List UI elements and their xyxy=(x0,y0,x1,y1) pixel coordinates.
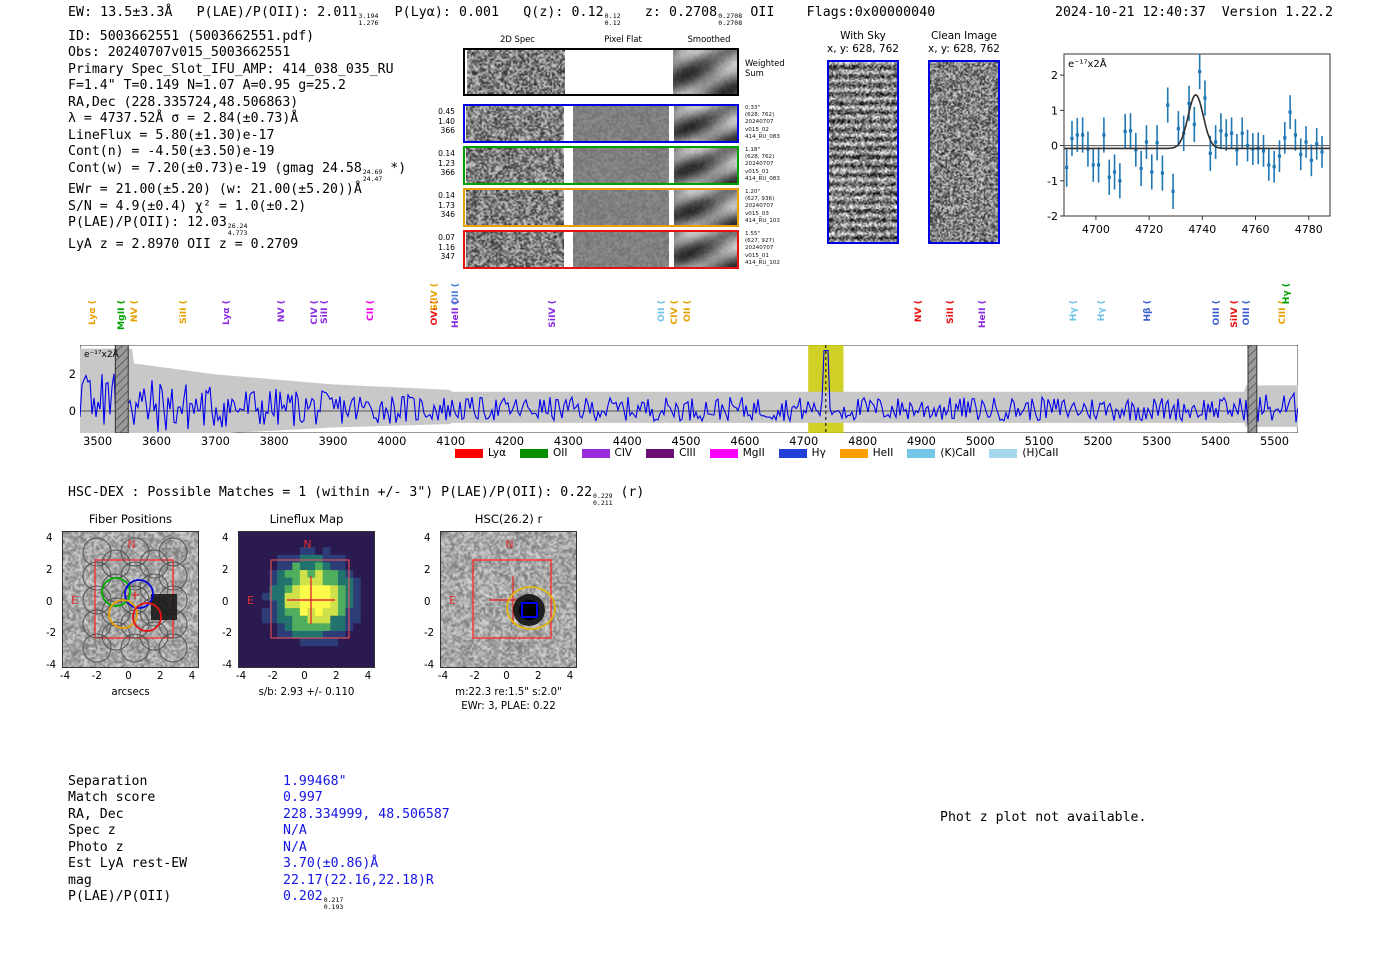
fiber-right-label: 1.18" xyxy=(745,147,805,154)
fiber-right-label: 414_RU_083 xyxy=(745,134,805,141)
info-cont-n: Cont(n) = -4.50(±3.50)e-19 xyxy=(68,144,406,160)
spec-column-header-2: Smoothed xyxy=(688,34,731,44)
fiber-left-label: 0.14 xyxy=(429,149,455,159)
mini-ytick: 2 xyxy=(424,565,430,576)
mini-caption: s/b: 2.93 +/- 0.110 xyxy=(238,687,375,698)
header-qz-lo: 0.12 xyxy=(605,20,621,27)
spectrum-xtick: 5000 xyxy=(966,434,995,448)
legend-item-CIII: CIII xyxy=(646,447,696,459)
weighted-sum-label: Weighted xyxy=(745,58,785,68)
spectrum-xtick: 4000 xyxy=(377,434,406,448)
info-lineflux: LineFlux = 5.80(±1.30)e-17 xyxy=(68,128,406,144)
emission-line-label-Lyα: Lyα ( xyxy=(87,300,98,325)
match-key: Photo z xyxy=(68,840,283,856)
spectrum-xtick: 4500 xyxy=(672,434,701,448)
full-spectrum-yaxis: 02 xyxy=(56,345,80,433)
legend-swatch xyxy=(840,449,868,458)
fiber-right-label: 414_RU_083 xyxy=(745,176,805,183)
fiber-right-label: v015_03 xyxy=(745,211,805,218)
header-plya: P(Lyα): 0.001 xyxy=(395,5,500,20)
mini-caption: m:22.3 re:1.5" s:2.0" xyxy=(440,687,577,698)
header-z-species: OII xyxy=(750,5,774,20)
fiber-smoothed-3 xyxy=(674,232,737,267)
mini-xtick: 4 xyxy=(567,671,573,682)
mini-caption: arcsecs xyxy=(62,687,199,698)
spec-column-header-1: Pixel Flat xyxy=(604,34,642,44)
mini-ytick: 0 xyxy=(424,597,430,608)
emission-line-label-NV: NV ( xyxy=(276,300,287,322)
info-cont-w-text: Cont(w) = 7.20(±0.73)e-19 (gmag 24.58 xyxy=(68,161,362,176)
spectrum-xtick: 5100 xyxy=(1025,434,1054,448)
spectrum-xtick: 4200 xyxy=(495,434,524,448)
fiber-right-label: 414_RU_103 xyxy=(745,218,805,225)
header-plae-value: 2.011 xyxy=(317,5,357,20)
fiber-pixelflat-3 xyxy=(573,232,669,267)
info-cont-w-lo: 24.47 xyxy=(363,176,383,183)
fiber-right-label: 20240707 xyxy=(745,119,805,126)
legend-label: CIII xyxy=(679,447,696,459)
mini-title-hsc-r-image: HSC(26.2) r xyxy=(440,512,577,526)
mini-panel-fiber-positions: NE+ xyxy=(62,531,199,668)
cutout-title: With Sky xyxy=(827,30,899,43)
legend-swatch xyxy=(520,449,548,458)
fiber-pixelflat-2 xyxy=(573,190,669,225)
legend-item-MgII: MgII xyxy=(710,447,765,459)
emission-line-label-OII: OII ( xyxy=(450,283,461,305)
legend-item-(K)CaII: (K)CaII xyxy=(907,447,975,459)
mini-xtick: 2 xyxy=(535,671,541,682)
mini-xtick: 4 xyxy=(189,671,195,682)
fiber-pixelflat-1 xyxy=(573,148,669,183)
legend-label: (H)CaII xyxy=(1022,447,1058,459)
svg-text:4780: 4780 xyxy=(1295,223,1323,236)
svg-text:e⁻¹⁷x2Å: e⁻¹⁷x2Å xyxy=(84,348,120,360)
fiber-left-label: 366 xyxy=(429,168,455,178)
fiber-right-label: (628, 762) xyxy=(745,154,805,161)
emission-line-label-OII: OII ( xyxy=(656,300,667,322)
fiber-2dspec-1 xyxy=(466,148,564,183)
match-key: Est LyA rest-EW xyxy=(68,856,283,872)
weighted-sum-smoothed xyxy=(673,50,737,94)
header-ew: EW: 13.5±3.3Å xyxy=(68,5,173,20)
match-key: P(LAE)/P(OII) xyxy=(68,889,283,905)
mini-xtick: -4 xyxy=(60,671,70,682)
legend-item-Lyα: Lyα xyxy=(455,447,506,459)
fiber-pixelflat-0 xyxy=(573,106,669,141)
fiber-right-label: 20240707 xyxy=(745,245,805,252)
emission-line-label-SiII: SiII ( xyxy=(178,300,189,324)
mini-xtick: 0 xyxy=(125,671,131,682)
fiber-right-label: (627, 936) xyxy=(745,196,805,203)
header-z: z: 0.2708 xyxy=(645,5,717,20)
fiber-left-label: 366 xyxy=(429,126,455,136)
legend-swatch xyxy=(710,449,738,458)
match-row: Match score0.997 xyxy=(68,790,450,806)
svg-text:E: E xyxy=(71,594,78,607)
svg-text:4700: 4700 xyxy=(1082,223,1110,236)
mini-ytick: 4 xyxy=(222,533,228,544)
mini-ytick: 0 xyxy=(222,597,228,608)
match-row: Separation1.99468" xyxy=(68,774,450,790)
emission-line-label-NV: NV ( xyxy=(129,300,140,322)
svg-text:1: 1 xyxy=(1051,104,1058,117)
emission-line-label-OIII: OIII ( xyxy=(1211,300,1222,325)
info-id: ID: 5003662551 (5003662551.pdf) xyxy=(68,29,406,45)
legend-swatch xyxy=(646,449,674,458)
fiber-2dspec-2 xyxy=(466,190,564,225)
spectrum-ytick: 2 xyxy=(69,367,76,381)
fiber-right-label: 1.55" xyxy=(745,231,805,238)
mini-ytick: -2 xyxy=(46,628,56,639)
cutout-clean-image: Clean Image x, y: 628, 762 xyxy=(928,60,1000,244)
info-ewr: EWr = 21.00(±5.20) (w: 21.00(±5.20))Å xyxy=(68,182,406,198)
emission-line-label-MgII: MgII ( xyxy=(116,300,127,330)
fiber-2dspec-3 xyxy=(466,232,564,267)
photoz-note: Phot z plot not available. xyxy=(940,810,1146,825)
spectrum-ytick: 0 xyxy=(69,404,76,418)
spectrum-xtick: 4700 xyxy=(789,434,818,448)
emission-line-label-OIII: OIII ( xyxy=(1241,300,1252,325)
hscdex-lo: 0.211 xyxy=(593,500,613,507)
fiber-right-label: (628, 762) xyxy=(745,112,805,119)
info-seeing: F=1.4" T=0.149 N=1.07 A=0.95 g=25.2 xyxy=(68,78,406,94)
legend-label: Hγ xyxy=(812,447,826,459)
mini-xtick: -4 xyxy=(438,671,448,682)
spectrum-xtick: 3600 xyxy=(142,434,171,448)
legend-label: HeII xyxy=(873,447,894,459)
svg-text:4740: 4740 xyxy=(1188,223,1216,236)
match-value: 228.334999, 48.506587 xyxy=(283,807,450,822)
fiber-smoothed-0 xyxy=(674,106,737,141)
spectrum-xtick: 3700 xyxy=(201,434,230,448)
svg-text:-1: -1 xyxy=(1047,175,1058,188)
spectrum-xtick: 4900 xyxy=(907,434,936,448)
cutout-title: Clean Image xyxy=(928,30,1000,43)
match-key: Match score xyxy=(68,790,283,806)
fiber-left-label: 1.16 xyxy=(429,243,455,253)
spectrum-xtick: 4600 xyxy=(730,434,759,448)
info-plae-lo: 4.773 xyxy=(228,230,248,237)
mini-ytick: 2 xyxy=(222,565,228,576)
svg-text:+: + xyxy=(130,588,140,602)
mini-xtick: 2 xyxy=(333,671,339,682)
match-value: N/A xyxy=(283,840,307,855)
spectrum-xtick: 3800 xyxy=(260,434,289,448)
legend-label: Lyα xyxy=(488,447,506,459)
mini-ytick: 4 xyxy=(424,533,430,544)
match-value: 22.17(22.16,22.18)R xyxy=(283,873,434,888)
emission-line-label-SiIV: SiIV ( xyxy=(429,283,440,311)
legend-item-CIV: CIV xyxy=(582,447,633,459)
twod-spec-panel: 2D SpecPixel FlatSmoothedWeightedSum0.45… xyxy=(455,34,760,249)
cutout-with-sky: With Sky x, y: 628, 762 xyxy=(827,60,899,244)
emission-line-zoom-plot: -2-101247004720474047604780e⁻¹⁷x2Å xyxy=(1036,46,1336,246)
match-row: P(LAE)/P(OII)0.2020.2170.193 xyxy=(68,889,450,911)
fiber-left-label: 0.45 xyxy=(429,107,455,117)
emission-line-label-Hβ: Hβ ( xyxy=(1142,300,1153,322)
emission-line-label-SiIV: SiIV ( xyxy=(547,300,558,328)
spectrum-xtick: 3500 xyxy=(83,434,112,448)
fiber-2dspec-0 xyxy=(466,106,564,141)
fiber-left-label: 0.14 xyxy=(429,191,455,201)
spectrum-xtick: 4300 xyxy=(554,434,583,448)
info-obs: Obs: 20240707v015_5003662551 xyxy=(68,45,406,61)
spectrum-xtick: 4800 xyxy=(848,434,877,448)
header-datetime: 2024-10-21 12:40:37 xyxy=(1055,5,1206,20)
info-primary-spec: Primary Spec_Slot_IFU_AMP: 414_038_035_R… xyxy=(68,62,406,78)
svg-text:2: 2 xyxy=(1051,69,1058,82)
match-row: Spec zN/A xyxy=(68,823,450,839)
header-timestamp-block: 2024-10-21 12:40:37 Version 1.22.2 xyxy=(1055,5,1333,20)
legend-item-OII: OII xyxy=(520,447,567,459)
fiber-right-label: v015_02 xyxy=(745,127,805,134)
mini-xtick: 4 xyxy=(365,671,371,682)
mini-ytick: -4 xyxy=(424,660,434,671)
svg-text:e⁻¹⁷x2Å: e⁻¹⁷x2Å xyxy=(1068,57,1107,70)
fiber-right-label: 1.20" xyxy=(745,189,805,196)
info-snr: S/N = 4.9(±0.4) χ² = 1.0(±0.2) xyxy=(68,199,406,215)
info-plae-text: P(LAE)/P(OII): 12.03 xyxy=(68,215,227,230)
spectrum-xtick: 5300 xyxy=(1142,434,1171,448)
match-row: RA, Dec228.334999, 48.506587 xyxy=(68,807,450,823)
emission-line-label-Hγ: Hγ ( xyxy=(1096,300,1107,321)
mini-ytick: -4 xyxy=(46,660,56,671)
fiber-right-label: 0.33" xyxy=(745,105,805,112)
spectrum-xtick: 5500 xyxy=(1260,434,1289,448)
header-plae-label: P(LAE)/P(OII): xyxy=(197,5,310,20)
emission-line-label-CIV: CIV ( xyxy=(669,300,680,325)
svg-text:N: N xyxy=(505,538,513,551)
legend-swatch xyxy=(582,449,610,458)
info-cont-w-post: *) xyxy=(390,161,406,176)
mini-xtick: -4 xyxy=(236,671,246,682)
weighted-sum-label: Sum xyxy=(745,68,785,78)
info-cont-w: Cont(w) = 7.20(±0.73)e-19 (gmag 24.5824.… xyxy=(68,161,406,183)
fiber-smoothed-1 xyxy=(674,148,737,183)
match-value: N/A xyxy=(283,823,307,838)
svg-text:N: N xyxy=(303,538,311,551)
mini-ytick: -2 xyxy=(424,628,434,639)
match-lo: 0.193 xyxy=(324,904,344,911)
info-plae: P(LAE)/P(OII): 12.0326.244.773 xyxy=(68,215,406,237)
svg-text:4720: 4720 xyxy=(1135,223,1163,236)
fiber-left-label: 1.73 xyxy=(429,201,455,211)
cutout-image-with-sky xyxy=(827,60,899,244)
match-key: RA, Dec xyxy=(68,807,283,823)
match-key: mag xyxy=(68,873,283,889)
legend-item-Hγ: Hγ xyxy=(779,447,826,459)
legend-label: (K)CaII xyxy=(940,447,975,459)
mini-title-lineflux-map: Lineflux Map xyxy=(238,512,375,526)
header-z-lo: 0.2708 xyxy=(718,20,742,27)
header-qz: Q(z): 0.12 xyxy=(523,5,603,20)
mini-caption: EWr: 3, PLAE: 0.22 xyxy=(440,701,577,712)
svg-text:-2: -2 xyxy=(1047,210,1058,223)
spectrum-legend: Lyα OII CIV CIII MgII Hγ HeII (K)CaII xyxy=(455,447,1072,461)
legend-swatch xyxy=(779,449,807,458)
fiber-smoothed-2 xyxy=(674,190,737,225)
fiber-left-label: 347 xyxy=(429,252,455,262)
svg-text:4760: 4760 xyxy=(1242,223,1270,236)
spectrum-xtick: 3900 xyxy=(319,434,348,448)
match-key: Spec z xyxy=(68,823,283,839)
match-value: 0.202 xyxy=(283,889,323,904)
spectrum-xtick: 5400 xyxy=(1201,434,1230,448)
legend-label: MgII xyxy=(743,447,765,459)
legend-item-(H)CaII: (H)CaII xyxy=(989,447,1058,459)
svg-text:0: 0 xyxy=(1051,140,1058,153)
emission-line-label-Lyα: Lyα ( xyxy=(221,300,232,325)
emission-line-label-OII: OII ( xyxy=(682,300,693,322)
legend-label: CIV xyxy=(615,447,633,459)
fiber-right-label: 20240707 xyxy=(745,203,805,210)
emission-line-label-HeII: HeII ( xyxy=(977,300,988,328)
info-redshifts: LyA z = 2.8970 OII z = 0.2709 xyxy=(68,237,406,253)
mini-ytick: -2 xyxy=(222,628,232,639)
mini-xtick: 0 xyxy=(301,671,307,682)
match-value: 3.70(±0.86)Å xyxy=(283,856,378,871)
hscdex-line-text: HSC-DEX : Possible Matches = 1 (within +… xyxy=(68,485,592,500)
legend-item-HeII: HeII xyxy=(840,447,894,459)
match-row: Photo zN/A xyxy=(68,840,450,856)
cutout-coords: x, y: 628, 762 xyxy=(928,43,1000,56)
fiber-right-label: 20240707 xyxy=(745,161,805,168)
info-wavelength: λ = 4737.52Å σ = 2.84(±0.73)Å xyxy=(68,111,406,127)
info-radec: RA,Dec (228.335724,48.506863) xyxy=(68,95,406,111)
fiber-left-label: 346 xyxy=(429,210,455,220)
mini-title-fiber-positions: Fiber Positions xyxy=(62,512,199,526)
match-key: Separation xyxy=(68,774,283,790)
match-value: 0.997 xyxy=(283,790,323,805)
match-row: mag22.17(22.16,22.18)R xyxy=(68,873,450,889)
mini-ytick: 2 xyxy=(46,565,52,576)
mini-ytick: 0 xyxy=(46,597,52,608)
fiber-right-label: (627, 927) xyxy=(745,238,805,245)
emission-line-label-CII: CII ( xyxy=(365,300,376,321)
mini-xtick: -2 xyxy=(92,671,102,682)
mini-xtick: -2 xyxy=(268,671,278,682)
full-spectrum-plot: e⁻¹⁷x2Å xyxy=(80,345,1298,433)
mini-xtick: -2 xyxy=(470,671,480,682)
emission-line-label-Hγ: Hγ ( xyxy=(1281,283,1292,304)
header-flags: Flags:0x00000040 xyxy=(807,5,936,20)
mini-xtick: 2 xyxy=(157,671,163,682)
emission-line-label-Hγ: Hγ ( xyxy=(1068,300,1079,321)
header-version: Version 1.22.2 xyxy=(1222,5,1333,20)
spectrum-xtick: 5200 xyxy=(1083,434,1112,448)
fiber-right-label: v015_01 xyxy=(745,169,805,176)
fiber-right-label: 414_RU_102 xyxy=(745,260,805,267)
legend-swatch xyxy=(907,449,935,458)
hscdex-line-post: (r) xyxy=(621,485,645,500)
fiber-left-label: 1.23 xyxy=(429,159,455,169)
emission-line-label-SiII: SiII ( xyxy=(319,300,330,324)
emission-line-label-SiIV: SiIV ( xyxy=(1229,300,1240,328)
spectrum-xtick: 4100 xyxy=(436,434,465,448)
legend-swatch xyxy=(989,449,1017,458)
fiber-right-label: v015_01 xyxy=(745,253,805,260)
legend-label: OII xyxy=(553,447,567,459)
svg-text:E: E xyxy=(247,594,254,607)
mini-panel-lineflux-map: NE xyxy=(238,531,375,668)
legend-swatch xyxy=(455,449,483,458)
emission-line-label-NV: NV ( xyxy=(913,300,924,322)
hscdex-summary-line: HSC-DEX : Possible Matches = 1 (within +… xyxy=(68,485,644,507)
weighted-sum-2dspec xyxy=(467,50,565,94)
cutout-coords: x, y: 628, 762 xyxy=(827,43,899,56)
cutout-image-clean-image xyxy=(928,60,1000,244)
emission-line-label-SiII: SiII ( xyxy=(945,300,956,324)
match-row: Est LyA rest-EW3.70(±0.86)Å xyxy=(68,856,450,872)
mini-xtick: 0 xyxy=(503,671,509,682)
match-table: Separation1.99468" Match score0.997 RA, … xyxy=(68,774,450,911)
spectrum-xtick: 4400 xyxy=(613,434,642,448)
spec-column-header-0: 2D Spec xyxy=(500,34,535,44)
fiber-left-label: 0.07 xyxy=(429,233,455,243)
match-value: 1.99468" xyxy=(283,774,347,789)
svg-text:E: E xyxy=(449,594,456,607)
header-summary-line: EW: 13.5±3.3Å P(LAE)/P(OII): 2.0113.1941… xyxy=(68,5,935,27)
mini-panel-hsc-r-image: NE xyxy=(440,531,577,668)
mini-ytick: -4 xyxy=(222,660,232,671)
source-info-block: ID: 5003662551 (5003662551.pdf) Obs: 202… xyxy=(68,29,406,253)
fiber-left-label: 1.40 xyxy=(429,117,455,127)
header-plae-lo: 1.276 xyxy=(358,20,378,27)
mini-ytick: 4 xyxy=(46,533,52,544)
